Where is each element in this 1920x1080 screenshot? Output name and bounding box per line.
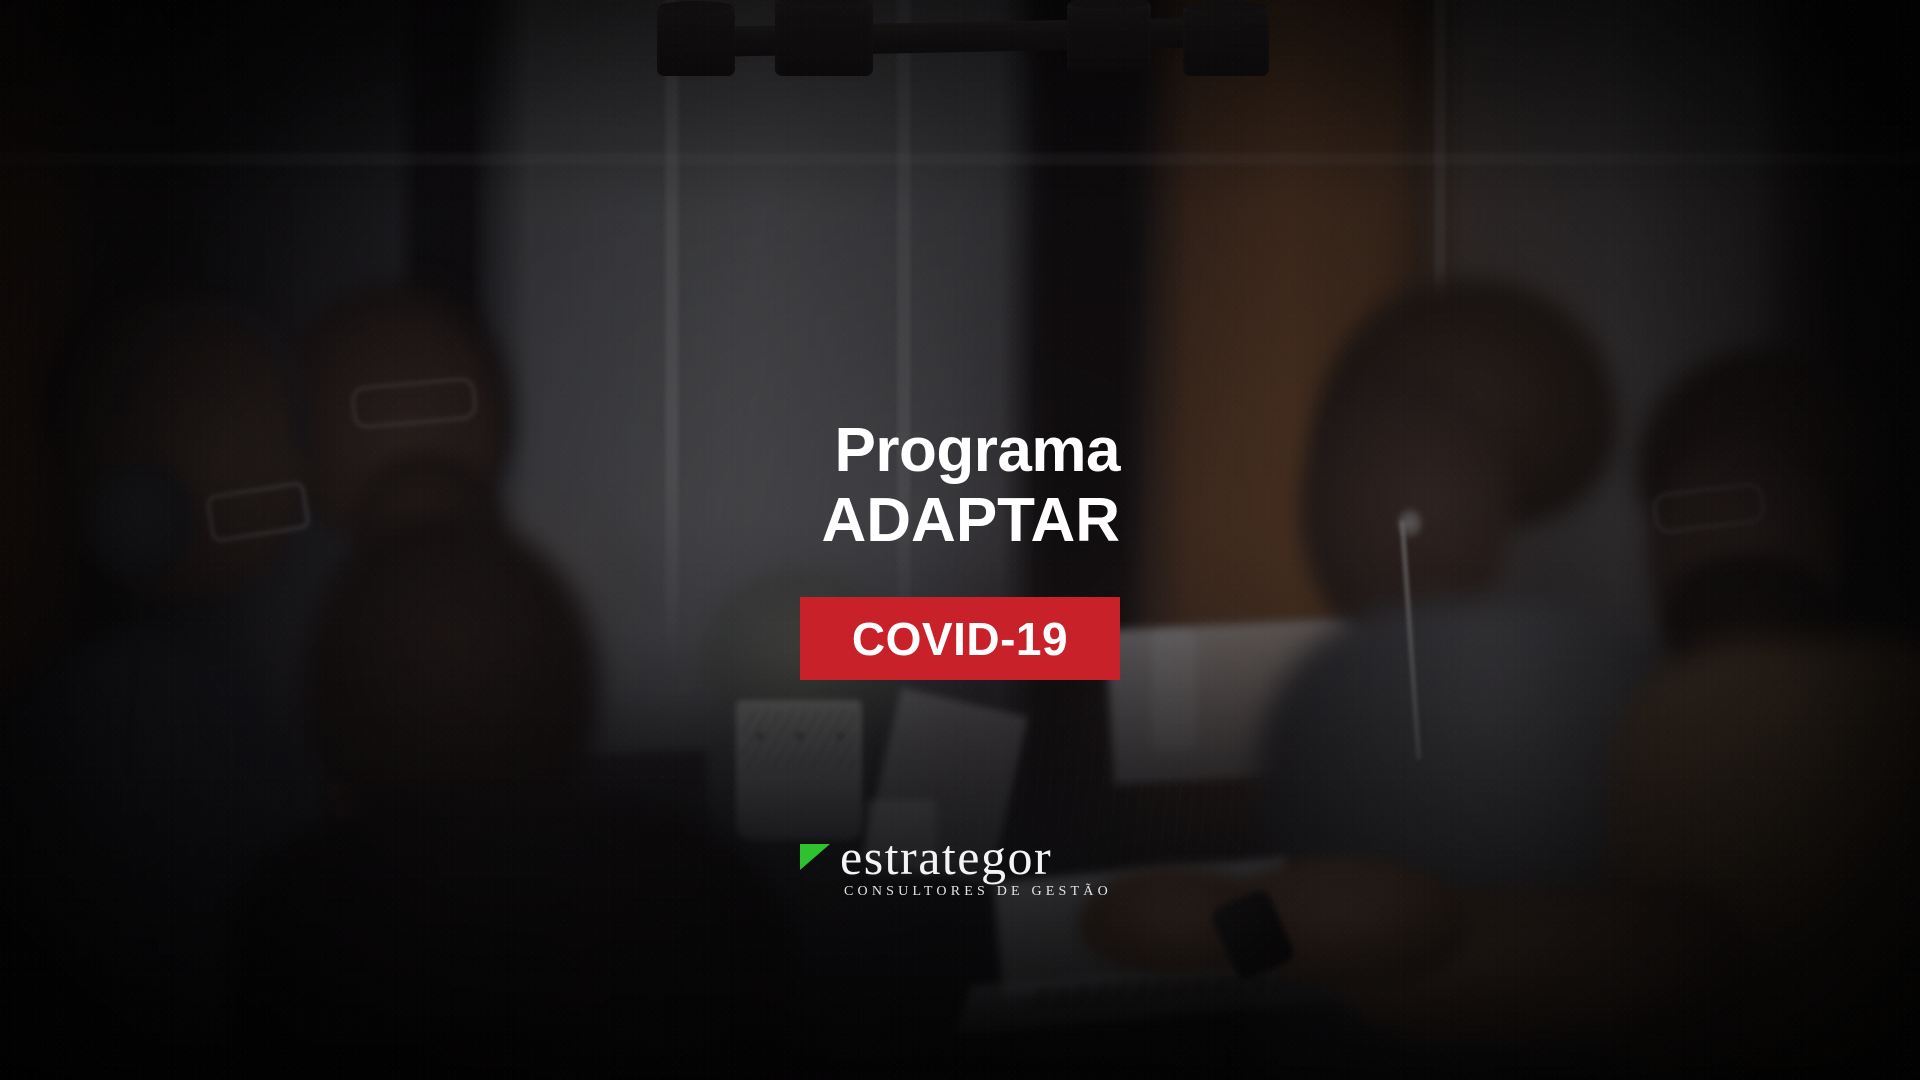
brand-tagline: CONSULTORES DE GESTÃO — [844, 884, 1112, 900]
status-badge-label: COVID-19 — [852, 612, 1068, 666]
poster-content: Programa ADAPTAR COVID-19 estrategor CON… — [0, 0, 1920, 1080]
page-title: Programa ADAPTAR — [640, 420, 1120, 552]
poster-canvas: Programa ADAPTAR COVID-19 estrategor CON… — [0, 0, 1920, 1080]
triangle-icon — [800, 844, 830, 870]
headline-line-1: Programa — [640, 420, 1120, 482]
status-badge: COVID-19 — [800, 597, 1120, 680]
headline-line-2: ADAPTAR — [640, 490, 1120, 552]
brand-logo: estrategor CONSULTORES DE GESTÃO — [800, 834, 1120, 906]
brand-wordmark: estrategor — [840, 832, 1052, 882]
